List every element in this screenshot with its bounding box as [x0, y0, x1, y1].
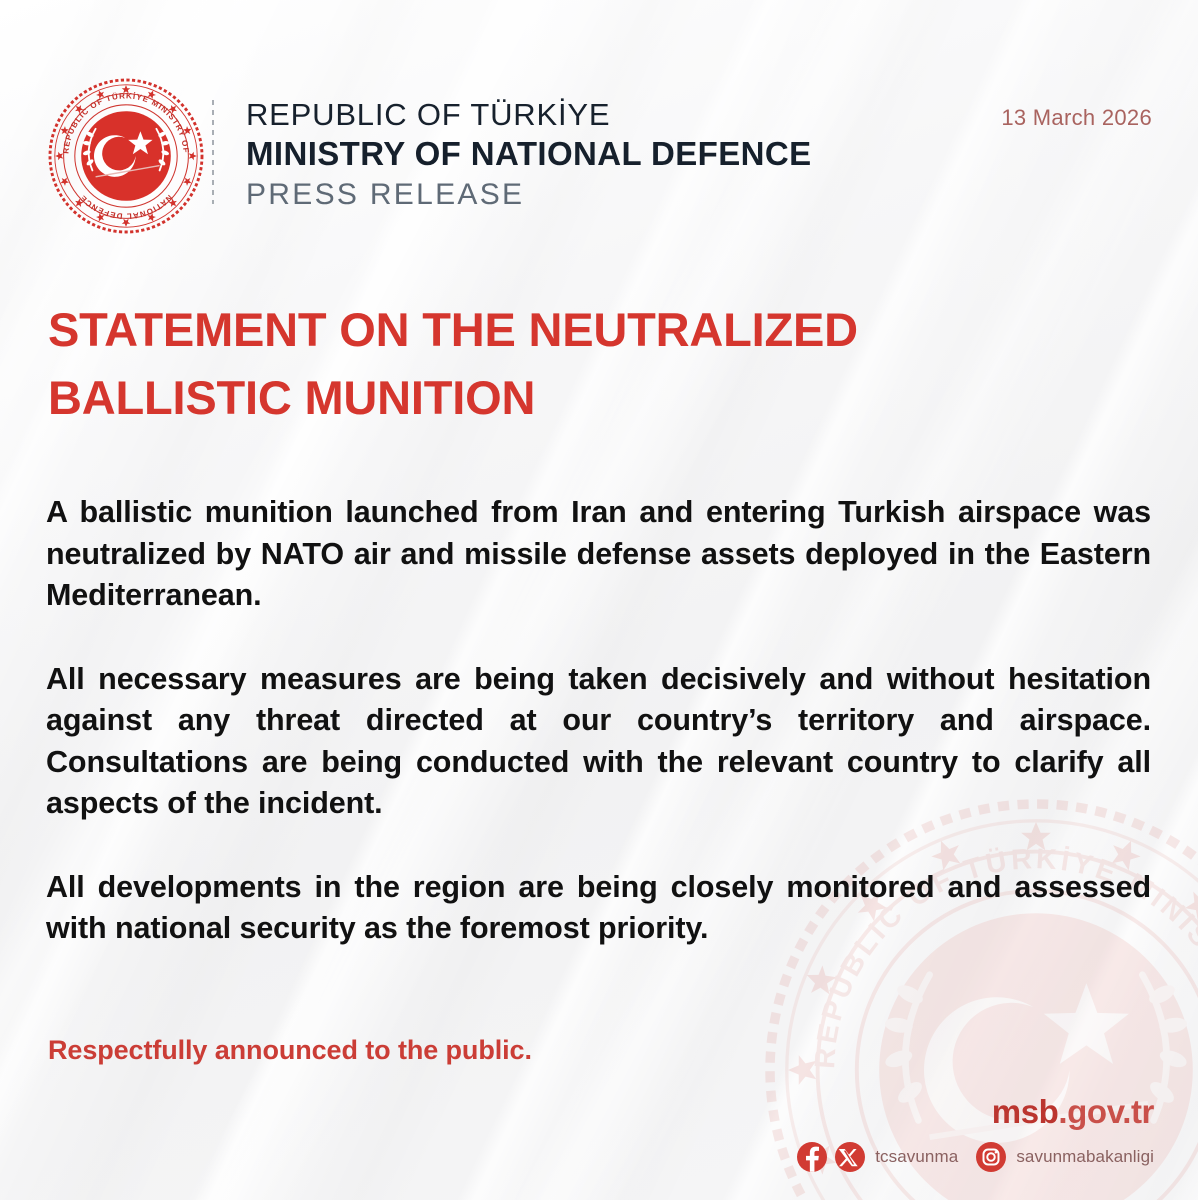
body-paragraph: A ballistic munition launched from Iran …: [46, 492, 1151, 617]
website-tld: .gov.tr: [1058, 1093, 1154, 1130]
header-line-press-release: PRESS RELEASE: [246, 174, 812, 216]
social-links: tcsavunma savunmabakanligi: [797, 1142, 1154, 1172]
press-release-page: REPUBLIC OF TÜRKİYE MINISTRY OF NATIONAL…: [0, 0, 1198, 1200]
svg-text:NATIONAL DEFENCE: NATIONAL DEFENCE: [864, 1196, 1198, 1200]
instagram-icon[interactable]: [976, 1142, 1006, 1172]
header-line-republic: REPUBLIC OF TÜRKİYE: [246, 96, 812, 134]
twitter-handle: tcsavunma: [875, 1147, 958, 1167]
x-twitter-icon[interactable]: [835, 1142, 865, 1172]
body-paragraph: All developments in the region are being…: [46, 867, 1151, 950]
header-title-block: REPUBLIC OF TÜRKİYE MINISTRY OF NATIONAL…: [246, 96, 812, 216]
header-divider: [212, 100, 214, 204]
ministry-seal-icon: REPUBLIC OF TÜRKİYE MINISTRY OF NATIONAL…: [46, 76, 206, 236]
instagram-handle: savunmabakanligi: [1016, 1147, 1154, 1167]
body-paragraph: All necessary measures are being taken d…: [46, 659, 1151, 825]
facebook-icon[interactable]: [797, 1142, 827, 1172]
closing-statement: Respectfully announced to the public.: [48, 1035, 532, 1066]
press-release-date: 13 March 2026: [1001, 105, 1152, 131]
website-name: msb: [992, 1093, 1059, 1130]
page-header: REPUBLIC OF TÜRKİYE MINISTRY OF NATIONAL…: [0, 0, 1198, 250]
press-release-body: A ballistic munition launched from Iran …: [46, 492, 1151, 950]
page-title: STATEMENT ON THE NEUTRALIZED BALLISTIC M…: [48, 296, 1068, 432]
page-footer: msb.gov.tr tcsavunma: [797, 1093, 1154, 1172]
header-line-ministry: MINISTRY OF NATIONAL DEFENCE: [246, 134, 812, 174]
website-url[interactable]: msb.gov.tr: [797, 1093, 1154, 1131]
